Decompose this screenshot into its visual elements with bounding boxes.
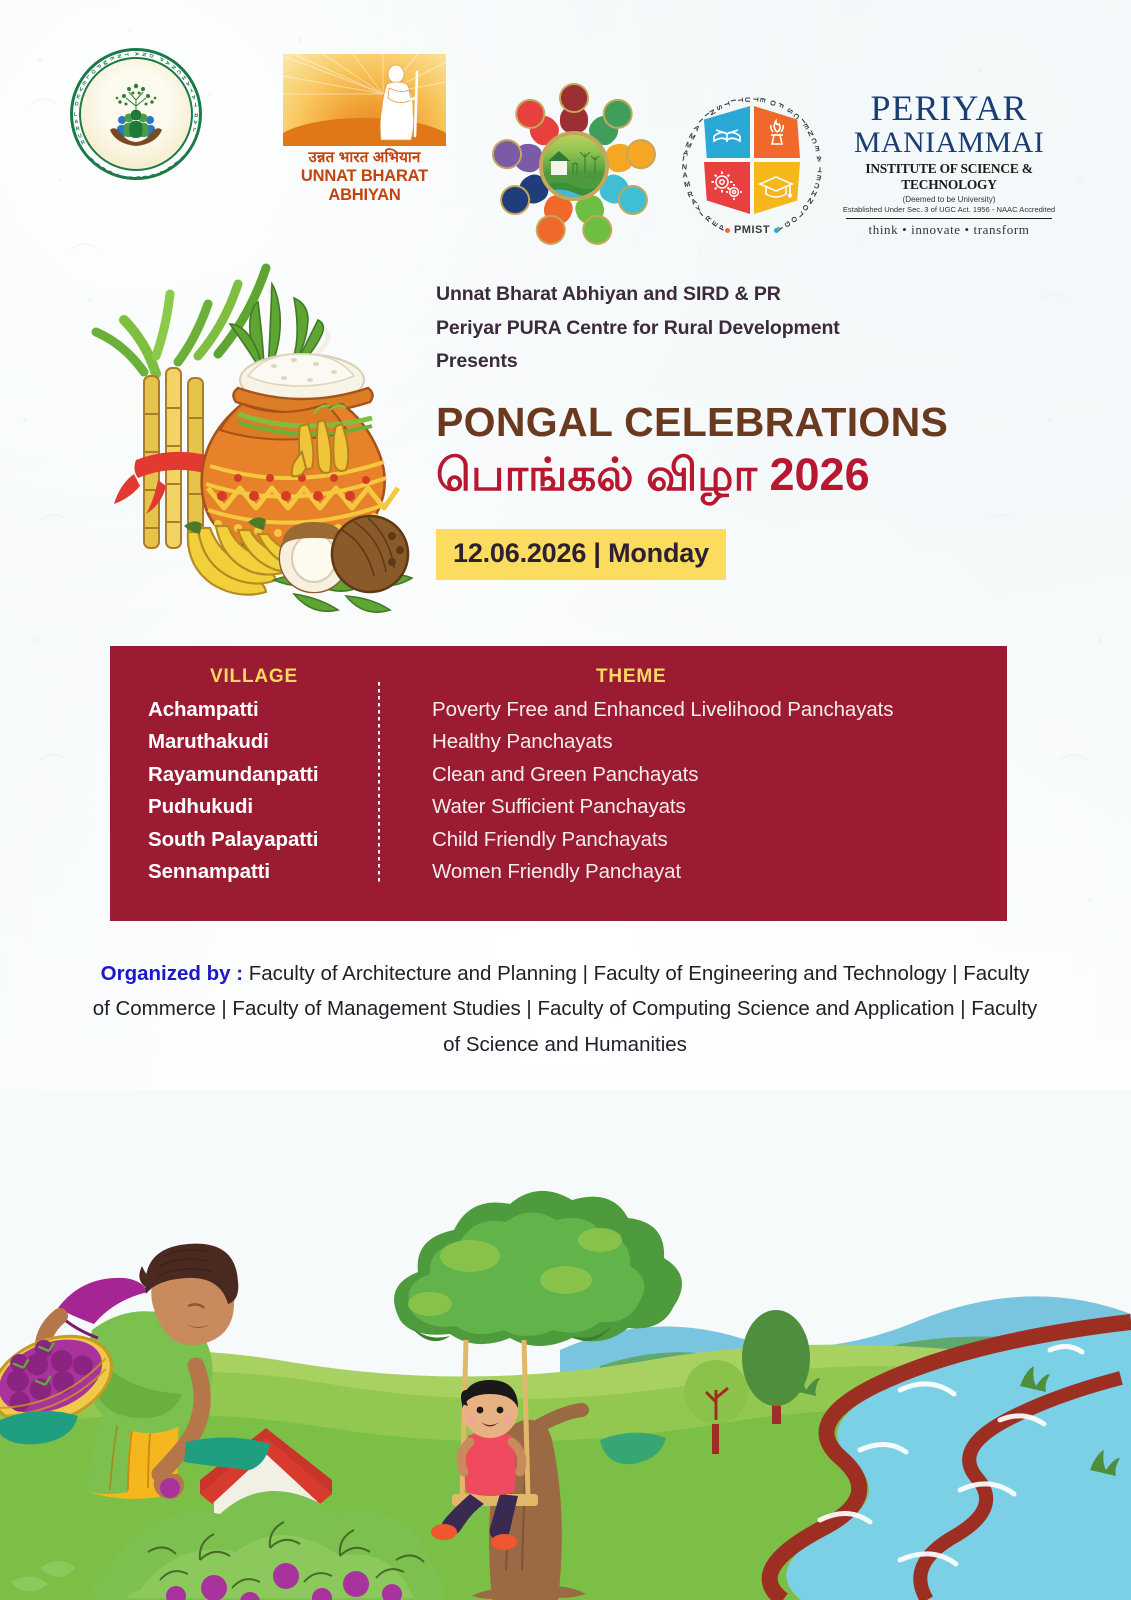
pmist-label-text: PMIST xyxy=(734,224,770,236)
page-title-tamil: பொங்கல் விழா 2026 xyxy=(436,448,1036,503)
organized-by-block: Organized by : Faculty of Architecture a… xyxy=(90,956,1040,1062)
cell-village: South Palayapatti xyxy=(148,828,416,852)
table-row: Achampatti Poverty Free and Enhanced Liv… xyxy=(148,698,989,730)
village-theme-table: VILLAGE THEME Achampatti Poverty Free an… xyxy=(110,646,1007,921)
table-row: Maruthakudi Healthy Panchayats xyxy=(148,730,989,762)
table-row: Pudhukudi Water Sufficient Panchayats xyxy=(148,795,989,827)
table-header-row: VILLAGE THEME xyxy=(148,666,989,698)
periyar-line1: PERIYAR xyxy=(838,90,1060,126)
periyar-line3: INSTITUTE OF SCIENCE & TECHNOLOGY xyxy=(838,161,1060,193)
unnat-bharat-abhiyan-logo: उन्नत भारत अभियान UNNAT BHARAT ABHIYAN xyxy=(283,54,446,184)
pmist-ring-text: P E R I Y A R M A N I A M M A I I N S T xyxy=(676,88,828,246)
column-header-theme: THEME xyxy=(596,666,667,688)
village-scene-icon xyxy=(539,131,609,201)
column-header-village: VILLAGE xyxy=(210,666,298,688)
cell-theme: Water Sufficient Panchayats xyxy=(416,795,686,819)
seal-ring-text: R U R A L D E V E L O P M E N T A N D P xyxy=(70,48,202,180)
pmist-hexagon-logo: P E R I Y A R M A N I A M M A I I N S T xyxy=(676,88,828,246)
poster-canvas: R U R A L D E V E L O P M E N T A N D P xyxy=(0,0,1131,1600)
presenter-line-3: Presents xyxy=(436,345,1036,379)
event-date-badge: 12.06.2026 | Monday xyxy=(436,529,726,580)
cell-theme: Child Friendly Panchayats xyxy=(416,828,668,852)
periyar-maniammai-wordmark: PERIYAR MANIAMMAI INSTITUTE OF SCIENCE &… xyxy=(838,90,1060,240)
presenter-line-1: Unnat Bharat Abhiyan and SIRD & PR xyxy=(436,278,1036,312)
logo-row: R U R A L D E V E L O P M E N T A N D P xyxy=(0,38,1131,208)
cell-village: Achampatti xyxy=(148,698,416,722)
cell-theme: Women Friendly Panchayat xyxy=(416,860,681,884)
table-row: Rayamundanpatti Clean and Green Panchaya… xyxy=(148,763,989,795)
pmist-label: PMIST xyxy=(676,224,828,236)
table-row: Sennampatti Women Friendly Panchayat xyxy=(148,860,989,892)
cell-theme: Healthy Panchayats xyxy=(416,730,613,754)
cell-village: Rayamundanpatti xyxy=(148,763,416,787)
periyar-line2: MANIAMMAI xyxy=(838,126,1060,159)
sird-pr-seal: R U R A L D E V E L O P M E N T A N D P xyxy=(70,48,202,180)
cell-village: Sennampatti xyxy=(148,860,416,884)
cell-village: Maruthakudi xyxy=(148,730,416,754)
cell-village: Pudhukudi xyxy=(148,795,416,819)
periyar-line4: (Deemed to be University) xyxy=(838,195,1060,204)
cell-theme: Clean and Green Panchayats xyxy=(416,763,698,787)
periyar-line5: Established Under Sec. 3 of UGC Act. 195… xyxy=(838,205,1060,214)
presenter-line-2: Periyar PURA Centre for Rural Developmen… xyxy=(436,312,1036,346)
organized-by-label: Organized by : xyxy=(101,962,243,985)
cell-theme: Poverty Free and Enhanced Livelihood Pan… xyxy=(416,698,893,722)
table-row: South Palayapatti Child Friendly Panchay… xyxy=(148,828,989,860)
periyar-divider xyxy=(846,218,1052,219)
rural-village-illustration xyxy=(0,1090,1131,1600)
sdg-village-wheel-logo xyxy=(498,90,650,242)
periyar-tagline: think • innovate • transform xyxy=(838,222,1060,238)
uba-english-text: UNNAT BHARAT ABHIYAN xyxy=(283,167,446,205)
gandhi-walking-illustration xyxy=(283,54,446,146)
page-title-english: PONGAL CELEBRATIONS xyxy=(436,401,1036,444)
hero-text-block: Unnat Bharat Abhiyan and SIRD & PR Periy… xyxy=(436,278,1036,580)
uba-hindi-text: उन्नत भारत अभियान xyxy=(283,147,446,167)
pongal-pot-illustration xyxy=(62,228,442,618)
